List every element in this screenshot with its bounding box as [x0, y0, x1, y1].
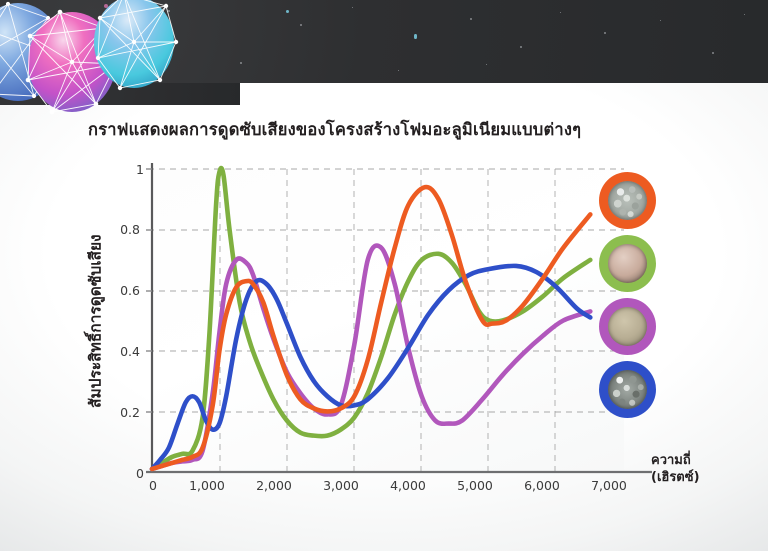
legend-item-purple[interactable] — [599, 298, 656, 355]
slide-canvas: กราฟแสดงผลการดูดซับเสียงของโครงสร้างโฟมอ… — [0, 0, 768, 551]
sample-photo-green — [608, 244, 647, 283]
sample-photo-blue — [608, 370, 647, 409]
legend — [599, 172, 665, 418]
legend-item-green[interactable] — [599, 235, 656, 292]
legend-item-blue[interactable] — [599, 361, 656, 418]
sample-photo-purple — [608, 307, 647, 346]
sample-photo-orange — [608, 181, 647, 220]
legend-item-orange[interactable] — [599, 172, 656, 229]
